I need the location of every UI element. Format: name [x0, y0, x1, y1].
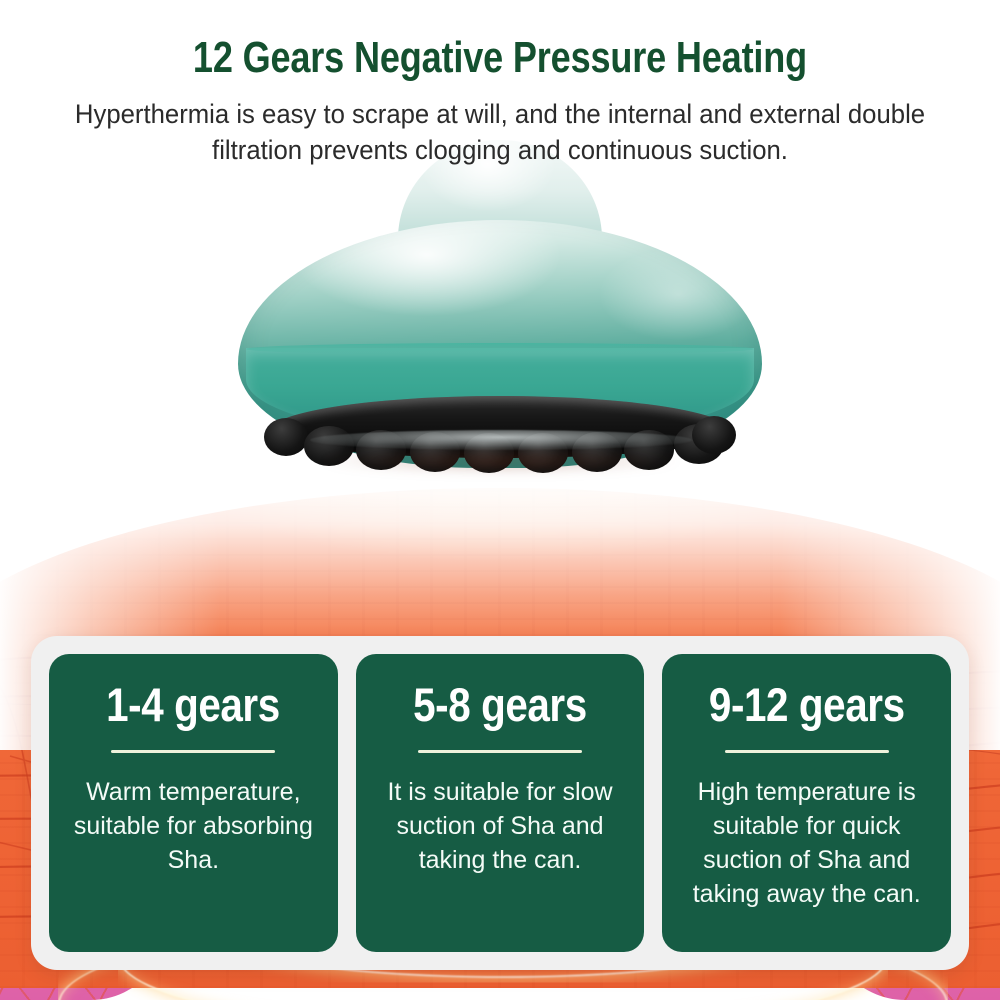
page-title: 12 Gears Negative Pressure Heating	[90, 0, 910, 84]
device-contact-shadow	[320, 448, 680, 474]
gear-card-description: It is suitable for slow suction of Sha a…	[372, 775, 629, 877]
gear-card-description: High temperature is suitable for quick s…	[678, 775, 935, 911]
gear-card-5-8: 5-8 gears It is suitable for slow suctio…	[356, 654, 645, 952]
gear-card-1-4: 1-4 gears Warm temperature, suitable for…	[49, 654, 338, 952]
gear-card-divider	[418, 750, 582, 753]
page-subtitle: Hyperthermia is easy to scrape at will, …	[15, 96, 985, 168]
banner-header: 12 Gears Negative Pressure Heating Hyper…	[0, 0, 1000, 175]
gear-card-9-12: 9-12 gears High temperature is suitable …	[662, 654, 951, 952]
gear-card-divider	[725, 750, 889, 753]
gear-card-title: 9-12 gears	[709, 680, 905, 730]
gear-card-divider	[111, 750, 275, 753]
product-feature-banner: 12 Gears Negative Pressure Heating Hyper…	[0, 0, 1000, 1000]
gua-sha-massager-device	[232, 148, 768, 448]
gear-card-description: Warm temperature, suitable for absorbing…	[65, 775, 322, 877]
gear-levels-panel: 1-4 gears Warm temperature, suitable for…	[31, 636, 969, 970]
device-suction-rim	[310, 430, 692, 450]
gear-card-title: 5-8 gears	[413, 680, 587, 730]
gear-card-title: 1-4 gears	[107, 680, 281, 730]
